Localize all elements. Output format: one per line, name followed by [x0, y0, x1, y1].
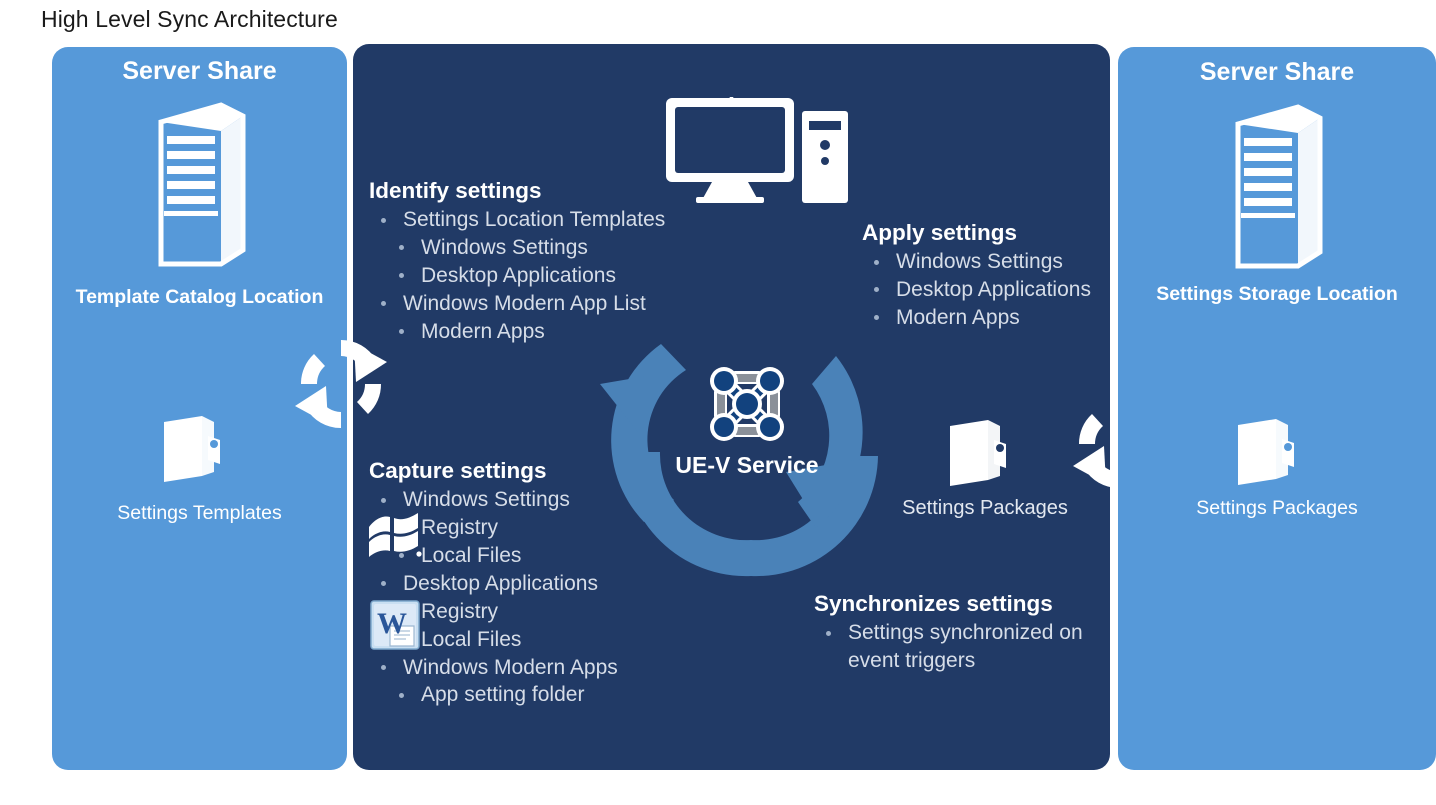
bullet-icon [381, 581, 386, 586]
list-item: Modern Apps [862, 304, 1112, 332]
left-panel-heading: Server Share [52, 57, 347, 86]
bullet-icon [826, 631, 831, 636]
uev-service-network-icon [706, 363, 788, 445]
list-item: Settings Location Templates [369, 206, 699, 234]
bullet-icon [399, 693, 404, 698]
list-item-label: Modern Apps [896, 306, 1020, 329]
list-item: Registry [369, 598, 709, 626]
bullet-icon [381, 218, 386, 223]
list-item-label: Windows Modern App List [403, 292, 646, 315]
list-item: Windows Modern App List [369, 290, 699, 318]
list-item-label: Windows Settings [403, 488, 570, 511]
list-item-label: Windows Settings [896, 250, 1063, 273]
sync-refresh-arrows-icon [284, 334, 398, 434]
windows-flag-logo-icon [366, 511, 422, 558]
list-item-label: Desktop Applications [403, 572, 598, 595]
list-item: Windows Settings [369, 234, 699, 262]
list-item-label: Desktop Applications [896, 278, 1091, 301]
bullet-icon [399, 329, 404, 334]
list-item: Desktop Applications [369, 262, 699, 290]
identify-settings-list: Settings Location Templates [369, 206, 699, 234]
list-item-label: Local Files [421, 628, 521, 651]
list-item: Windows Modern Apps [369, 654, 709, 682]
capture-settings-block: Capture settings Windows Settings Regist… [369, 457, 709, 709]
list-item: Desktop Applications [862, 276, 1112, 304]
identify-settings-block: Identify settings Settings Location Temp… [369, 177, 699, 346]
right-panel-heading: Server Share [1118, 58, 1436, 87]
list-item-label: App setting folder [421, 683, 584, 706]
left-server-caption: Template Catalog Location [52, 286, 347, 309]
list-item-label: Modern Apps [421, 320, 545, 343]
bullet-icon [381, 498, 386, 503]
svg-text:W: W [377, 607, 407, 640]
synchronize-settings-block: Synchronizes settings Settings synchroni… [814, 590, 1104, 675]
list-item-label: Registry [421, 600, 498, 623]
right-server-caption: Settings Storage Location [1118, 283, 1436, 306]
page-title: High Level Sync Architecture [41, 6, 338, 33]
apply-settings-title: Apply settings [862, 219, 1112, 246]
list-item-label: Settings Location Templates [403, 208, 665, 231]
list-item-label: Desktop Applications [421, 264, 616, 287]
bullet-icon [399, 273, 404, 278]
bullet-icon [874, 260, 879, 265]
identify-settings-title: Identify settings [369, 177, 699, 204]
list-item-label-wrap: event triggers [848, 647, 1104, 675]
settings-folder-icon [162, 414, 232, 486]
server-rack-icon [153, 102, 249, 267]
apply-settings-block: Apply settings Windows Settings Desktop … [862, 219, 1112, 332]
right-folder-caption: Settings Packages [1118, 497, 1436, 520]
left-folder-caption: Settings Templates [52, 502, 347, 525]
bullet-icon [381, 301, 386, 306]
bullet-icon [874, 315, 879, 320]
list-item: App setting folder [369, 681, 709, 709]
list-item: Desktop Applications [369, 570, 709, 598]
bullet-icon [399, 245, 404, 250]
panel-server-share-right: Server Share Settings Storage Location [1118, 47, 1436, 770]
list-item-label: Local Files [421, 544, 521, 567]
synchronize-settings-title: Synchronizes settings [814, 590, 1104, 617]
list-item-label: Settings synchronized on [848, 621, 1083, 644]
settings-folder-icon [1236, 417, 1306, 489]
list-item-label: Registry [421, 516, 498, 539]
bullet-icon [381, 665, 386, 670]
microsoft-word-icon: W [370, 600, 420, 650]
server-rack-icon [1230, 104, 1326, 269]
list-item: Local Files [369, 626, 709, 654]
list-item: Windows Settings [862, 248, 1112, 276]
capture-settings-title: Capture settings [369, 457, 709, 484]
settings-folder-icon [948, 418, 1018, 490]
list-item: Modern Apps [369, 318, 699, 346]
diagram-canvas: High Level Sync Architecture Server Shar… [0, 0, 1436, 805]
bullet-icon [874, 287, 879, 292]
list-item-label: Windows Settings [421, 236, 588, 259]
list-item: Settings synchronized on event triggers [814, 619, 1104, 675]
list-item: Windows Settings [369, 486, 709, 514]
center-packages-caption: Settings Packages [880, 497, 1090, 520]
list-item-label: Windows Modern Apps [403, 656, 618, 679]
